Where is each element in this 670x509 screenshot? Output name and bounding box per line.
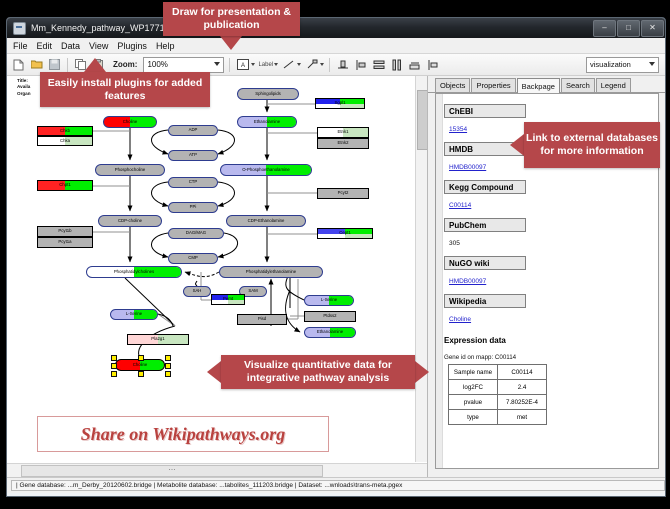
selection-handle-se[interactable] — [165, 371, 171, 377]
node-chkb[interactable]: Chkb — [37, 126, 93, 136]
row-label: type — [449, 410, 498, 425]
node-pla2g1[interactable]: Pla2g1 — [127, 334, 189, 345]
selection-handle-n[interactable] — [138, 355, 144, 361]
row-value: 7.80252E-4 — [498, 395, 547, 410]
node-o-phosphoethanolamine[interactable]: O-Phosphoethanolamine — [220, 164, 312, 176]
node-label: ADP — [189, 128, 198, 132]
tab-objects[interactable]: Objects — [435, 78, 470, 92]
table-row: log2FC 2.4 — [449, 380, 547, 395]
node-sphingolipids[interactable]: Sphingolipids — [237, 88, 299, 100]
open-folder-icon[interactable] — [29, 57, 44, 72]
maximize-button[interactable]: □ — [617, 20, 640, 37]
callout-visualize: Visualize quantitative data for integrat… — [221, 355, 415, 389]
node-pisd[interactable]: Pisd — [237, 314, 287, 325]
pathway-canvas-area[interactable]: Title: Availa Organ — [7, 76, 428, 477]
node-label: Phosphatidylcholines — [114, 270, 154, 274]
db-link-hmdb[interactable]: HMDB00097 — [449, 164, 486, 171]
datanode-icon[interactable]: A — [235, 57, 250, 72]
db-header-kegg-compound: Kegg Compound — [444, 180, 526, 194]
db-link-nugo-wiki[interactable]: HMDB00097 — [449, 278, 486, 285]
node-pcyt1a[interactable]: Pcyt1a — [37, 237, 93, 248]
db-link-kegg-compound[interactable]: C00114 — [449, 202, 471, 209]
node-label: Pcyt1a — [58, 240, 71, 244]
node-phosphatidylcholines[interactable]: Phosphatidylcholines — [86, 266, 182, 278]
node-dag-mag[interactable]: DAG/MAG — [168, 228, 224, 239]
node-label: Choline — [133, 363, 148, 367]
node-sgpl1[interactable]: Sgpl1 — [315, 98, 365, 109]
selection-handle-s[interactable] — [138, 371, 144, 377]
node-label: Etnk1 — [338, 130, 349, 134]
node-ppi[interactable]: PPi — [168, 202, 218, 213]
node-label: Ethanolamine — [254, 120, 280, 124]
menu-item-edit[interactable]: Edit — [37, 41, 53, 51]
scrollbar-thumb[interactable]: ⋯ — [21, 465, 323, 477]
expression-data-heading: Expression data — [444, 336, 656, 345]
db-header-wikipedia: Wikipedia — [444, 294, 526, 308]
distribute-horizontal-icon[interactable] — [389, 57, 404, 72]
node-ctp[interactable]: CTP — [168, 177, 218, 188]
node-label: SAM — [248, 289, 257, 293]
row-value: met — [498, 410, 547, 425]
canvas-vertical-scrollbar[interactable] — [415, 76, 427, 462]
selection-handle-ne[interactable] — [165, 355, 171, 361]
align-left-icon[interactable] — [353, 57, 368, 72]
selection-handle-nw[interactable] — [111, 355, 117, 361]
node-label: PPi — [190, 205, 197, 209]
db-link-chebi[interactable]: 15354 — [449, 126, 467, 133]
scrollbar-thumb[interactable] — [417, 90, 428, 150]
node-cdp-choline[interactable]: CDP-choline — [98, 215, 162, 227]
node-phosphatidylethanolamine[interactable]: Phosphatidylethanolamine — [219, 266, 323, 278]
selection-handle-w[interactable] — [111, 363, 117, 369]
node-label: Sphingolipids — [255, 92, 281, 96]
selection-handle-e[interactable] — [165, 363, 171, 369]
node-label: CMP — [188, 256, 198, 260]
db-header-pubchem: PubChem — [444, 218, 526, 232]
menu-item-view[interactable]: View — [89, 41, 108, 51]
line-dropdown[interactable] — [281, 57, 301, 72]
row-label: Sample name — [449, 365, 498, 380]
node-label: SAH — [193, 289, 202, 293]
node-adp[interactable]: ADP — [168, 125, 218, 136]
line-icon[interactable] — [281, 57, 296, 72]
menu-bar: File Edit Data View Plugins Help — [7, 38, 665, 54]
node-label: CDP-Ethanolamine — [248, 219, 285, 223]
node-pemt[interactable]: Pemt — [211, 294, 245, 305]
node-label: L-Serine — [321, 298, 337, 302]
node-label: Pla2g1 — [151, 337, 164, 341]
callout-draw-stem — [225, 36, 237, 42]
node-pcyt1b[interactable]: Pcyt1b — [37, 226, 93, 237]
node-label: Ethanolamine — [317, 330, 343, 334]
node-l-serine-left[interactable]: L-Serine — [110, 309, 158, 320]
expression-data-table: Sample name C00114 log2FC 2.4 pvalue 7.8… — [448, 364, 547, 425]
title-bar: Mm_Kennedy_pathway_WP1771_45176.gpml – □… — [7, 18, 665, 38]
node-ptdss2[interactable]: Ptdss2 — [304, 311, 356, 322]
node-ethanolamine-2[interactable]: Ethanolamine — [304, 327, 356, 338]
menu-item-help[interactable]: Help — [156, 41, 175, 51]
chevron-down-icon[interactable] — [251, 63, 255, 66]
align-top-icon[interactable] — [335, 57, 350, 72]
node-pcyt2[interactable]: Pcyt2 — [317, 188, 369, 199]
node-label: Choline — [123, 120, 138, 124]
callout-draw: Draw for presentation & publication — [163, 2, 300, 36]
bring-front-icon[interactable] — [425, 57, 440, 72]
save-icon[interactable] — [47, 57, 62, 72]
node-label: L-Serine — [126, 312, 142, 316]
svg-text:A: A — [241, 63, 245, 69]
minimize-button[interactable]: – — [593, 20, 616, 37]
node-label: Pemt — [223, 297, 233, 301]
node-label: CTP — [189, 180, 198, 184]
size-equal-icon[interactable] — [407, 57, 422, 72]
table-row: Sample name C00114 — [449, 365, 547, 380]
chevron-down-icon[interactable] — [274, 63, 278, 66]
node-label: CDP-choline — [118, 219, 142, 223]
node-atp[interactable]: ATP — [168, 150, 218, 161]
menu-item-file[interactable]: File — [13, 41, 28, 51]
visualization-value: visualization — [590, 60, 631, 69]
table-row: type met — [449, 410, 547, 425]
anchor-icon[interactable] — [304, 57, 319, 72]
datanode-dropdown[interactable]: A — [235, 57, 255, 72]
node-label: Etnk2 — [338, 141, 349, 145]
node-l-serine-right[interactable]: L-Serine — [304, 295, 354, 306]
chevron-down-icon — [649, 62, 655, 66]
zoom-combobox[interactable]: 100% — [143, 57, 224, 73]
node-label: Phosphatidylethanolamine — [246, 270, 296, 274]
node-phosphocholine[interactable]: Phosphocholine — [95, 164, 165, 176]
node-label: O-Phosphoethanolamine — [242, 168, 290, 172]
backpage-scrollbar[interactable] — [436, 94, 443, 468]
db-link-wikipedia[interactable]: Choline — [449, 316, 471, 323]
toolbar-separator — [67, 58, 68, 72]
row-label: log2FC — [449, 380, 498, 395]
db-header-chebi: ChEBI — [444, 104, 526, 118]
node-cept1[interactable]: Cept1 — [317, 228, 373, 239]
node-label: Pcyt2 — [338, 191, 349, 195]
tab-legend[interactable]: Legend — [596, 78, 631, 92]
gene-id-line: Gene id on mapp: C00114 — [444, 354, 656, 361]
node-chka[interactable]: Chka — [37, 136, 93, 146]
anchor-dropdown[interactable] — [304, 57, 324, 72]
table-row: pvalue 7.80252E-4 — [449, 395, 547, 410]
node-label: Chka — [60, 139, 70, 143]
node-etnk2[interactable]: Etnk2 — [317, 138, 369, 149]
chevron-down-icon[interactable] — [320, 63, 324, 66]
menu-item-data[interactable]: Data — [61, 41, 80, 51]
node-label: Phosphocholine — [115, 168, 146, 172]
close-button[interactable]: ✕ — [641, 20, 664, 37]
toolbar-separator-2 — [229, 58, 230, 72]
window-buttons: – □ ✕ — [593, 20, 665, 37]
toolbar-separator-3 — [329, 58, 330, 72]
node-sah[interactable]: SAH — [183, 286, 211, 297]
status-bar: | Gene database: ...m_Derby_20120602.bri… — [7, 477, 665, 493]
node-label: Sgpl1 — [335, 101, 346, 105]
node-label: Pisd — [258, 317, 266, 321]
node-choline-top[interactable]: Choline — [103, 116, 157, 128]
node-label: Pcyt1b — [58, 229, 71, 233]
tab-search[interactable]: Search — [561, 78, 595, 92]
new-file-icon[interactable] — [11, 57, 26, 72]
db-value-pubchem: 305 — [449, 240, 460, 247]
zoom-value: 100% — [147, 60, 167, 69]
node-label: DAG/MAG — [186, 231, 206, 235]
side-panel-tabs: Objects Properties Backpage Search Legen… — [428, 76, 665, 93]
node-etnk1[interactable]: Etnk1 — [317, 127, 369, 138]
node-label: Ptdss2 — [323, 314, 336, 318]
row-value: 2.4 — [498, 380, 547, 395]
wikipathways-banner-text: Share on Wikipathways.org — [81, 424, 286, 445]
node-cdp-ethanolamine[interactable]: CDP-Ethanolamine — [226, 215, 306, 227]
row-label: pvalue — [449, 395, 498, 410]
tab-backpage[interactable]: Backpage — [517, 78, 560, 93]
callout-plugins: Easily install plugins for added feature… — [40, 72, 210, 107]
status-text: | Gene database: ...m_Derby_20120602.bri… — [11, 480, 665, 491]
canvas-horizontal-scrollbar[interactable]: ⋯ — [7, 463, 427, 477]
distribute-vertical-icon[interactable] — [371, 57, 386, 72]
node-label: ATP — [189, 153, 197, 157]
label-icon[interactable]: Label — [258, 62, 273, 68]
pathway-canvas[interactable]: Title: Availa Organ — [15, 76, 415, 462]
tab-properties[interactable]: Properties — [471, 78, 515, 92]
label-dropdown[interactable]: Label — [258, 62, 278, 68]
db-header-nugo-wiki: NuGO wiki — [444, 256, 526, 270]
zoom-label: Zoom: — [113, 60, 137, 69]
screenshot-root: Mm_Kennedy_pathway_WP1771_45176.gpml – □… — [0, 0, 670, 509]
selection-handle-sw[interactable] — [111, 371, 117, 377]
node-label: Chkb — [60, 129, 70, 133]
app-icon — [13, 22, 26, 35]
node-cmp[interactable]: CMP — [168, 253, 218, 264]
callout-links: Link to external databases for more info… — [524, 122, 660, 168]
node-chpt1[interactable]: Chpt1 — [37, 180, 93, 191]
node-label: Cept1 — [339, 231, 350, 235]
node-ethanolamine[interactable]: Ethanolamine — [237, 116, 297, 128]
wikipathways-banner: Share on Wikipathways.org — [37, 416, 329, 452]
chevron-down-icon[interactable] — [297, 63, 301, 66]
chevron-down-icon — [214, 62, 220, 66]
row-value: C00114 — [498, 365, 547, 380]
menu-item-plugins[interactable]: Plugins — [117, 41, 147, 51]
visualization-combobox[interactable]: visualization — [586, 57, 659, 73]
node-label: Chpt1 — [59, 183, 70, 187]
